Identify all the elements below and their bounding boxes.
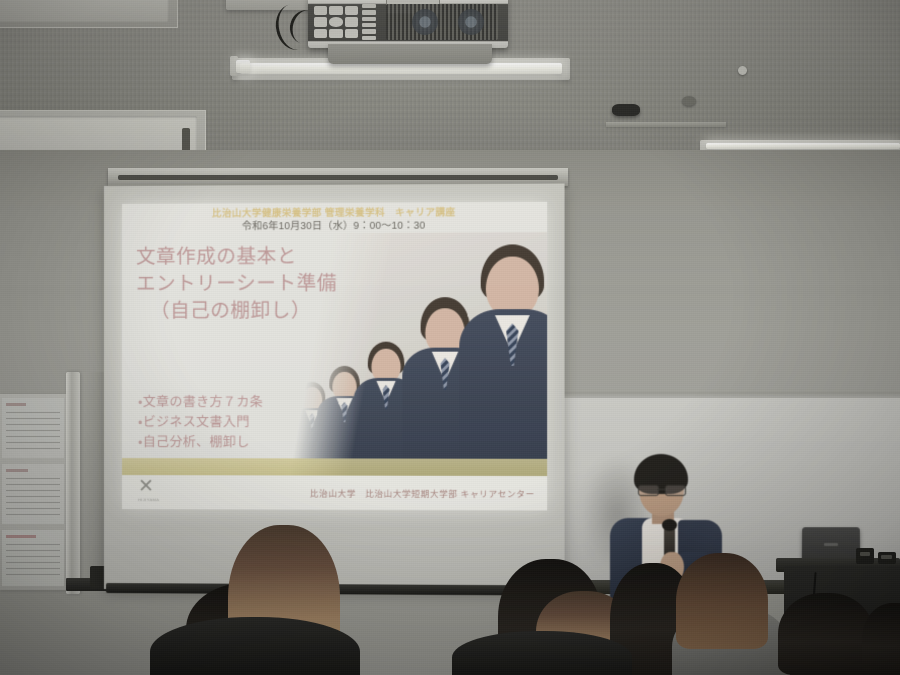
ceiling-rail	[606, 122, 726, 127]
university-logo-icon: ✕	[138, 477, 172, 497]
slide-title-line-2: エントリーシート準備	[136, 270, 388, 298]
student-far-right	[862, 603, 900, 675]
slide-bullet-list: 文章の書き方７カ条 ビジネス文書入門 自己分析、棚卸し	[138, 392, 380, 452]
list-item	[778, 593, 874, 675]
projector-fan-icon	[458, 9, 484, 35]
whiteboard-left-panel	[80, 372, 104, 578]
whiteboard-frame-edge	[66, 372, 80, 594]
slide-footer: ✕ HIJIYAMA 比治山大学 比治山大学短期大学部 キャリアセンター	[122, 475, 547, 510]
slide-credit-line: 比治山大学 比治山大学短期大学部 キャリアセンター	[310, 488, 535, 501]
ceiling-speaker	[612, 104, 640, 116]
student-back-row-right	[778, 593, 874, 675]
eyeglasses-icon	[638, 485, 686, 494]
av-indicator-light	[860, 552, 870, 556]
slide-accent-band	[122, 458, 547, 476]
smoke-detector-icon	[738, 66, 747, 75]
student-brown-hair	[676, 553, 768, 649]
slide-organization-line: 比治山大学健康栄養学部 管理栄養学科 キャリア講座	[122, 206, 547, 221]
student-shoulders	[452, 631, 632, 675]
fluorescent-tube	[706, 143, 900, 149]
slide-bullet-item: ビジネス文書入門	[138, 412, 380, 432]
av-control-box[interactable]	[856, 548, 874, 564]
list-item	[676, 553, 768, 649]
list-item	[862, 603, 900, 675]
slide-bullet-item: 自己分析、棚卸し	[138, 432, 380, 452]
projector-fan-icon	[412, 9, 438, 35]
university-logo-text: HIJIYAMA	[138, 497, 159, 502]
slide-bullet-item: 文章の書き方７カ条	[138, 392, 380, 412]
fluorescent-tube	[240, 63, 562, 74]
slide-title: 文章作成の基本と エントリーシート準備 （自己の棚卸し）	[136, 243, 388, 325]
projected-slide: 比治山大学健康栄養学部 管理栄養学科 キャリア講座 令和6年10月30日（水）9…	[122, 202, 547, 511]
slide-student-figure	[459, 244, 547, 477]
slide-title-line-3: （自己の棚卸し）	[136, 297, 388, 325]
projector-ceiling-mount	[328, 44, 492, 64]
ceiling-air-vent	[0, 0, 178, 28]
posted-schedule-sheets	[0, 394, 66, 590]
projector-body	[308, 0, 508, 48]
slide-title-line-1: 文章作成の基本と	[136, 243, 388, 271]
student-shoulders	[150, 617, 360, 675]
screen-roller-slot	[118, 175, 558, 180]
av-indicator-light	[881, 555, 892, 559]
fluorescent-tube-end	[236, 60, 250, 73]
ceiling-sensor	[682, 96, 696, 106]
projector-indicator-strip	[362, 4, 376, 40]
lecture-hall-photo: 比治山大学健康栄養学部 管理栄養学科 キャリア講座 令和6年10月30日（水）9…	[0, 0, 900, 675]
